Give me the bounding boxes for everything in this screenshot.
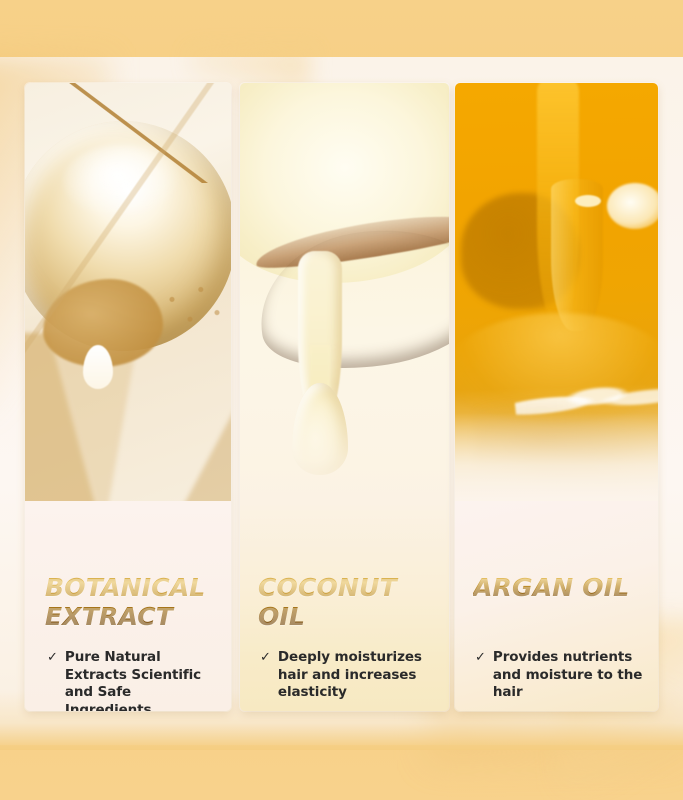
- card-heading: BOTANICAL EXTRACT: [45, 573, 221, 631]
- card-bullet-list: ✓ Provides nutrients and moisture to the…: [475, 649, 646, 702]
- check-icon: ✓: [260, 649, 271, 666]
- bullet-text: Pure Natural Extracts Scientific and Saf…: [65, 649, 219, 711]
- card-heading: ARGAN OIL: [473, 573, 648, 602]
- oil-highlight-large: [607, 183, 658, 229]
- card-text-area: COCONUT OIL ✓ Deeply moisturizes hair an…: [240, 501, 449, 711]
- ingredient-card-botanical-extract[interactable]: BOTANICAL EXTRACT ✓ Pure Natural Extract…: [25, 83, 231, 711]
- card-bullet-list: ✓ Deeply moisturizes hair and increases …: [260, 649, 437, 702]
- botanical-extract-image: [25, 83, 231, 503]
- infographic-canvas: BOTANICAL EXTRACT ✓ Pure Natural Extract…: [0, 0, 683, 800]
- card-heading: COCONUT OIL: [258, 573, 439, 631]
- stem-line-secondary: [25, 83, 231, 503]
- ingredient-card-argan-oil[interactable]: ARGAN OIL ✓ Provides nutrients and moist…: [455, 83, 658, 711]
- image-bottom-fade: [455, 413, 658, 503]
- card-bullet-list: ✓ Pure Natural Extracts Scientific and S…: [47, 649, 219, 711]
- card-text-area: BOTANICAL EXTRACT ✓ Pure Natural Extract…: [25, 501, 231, 711]
- check-icon: ✓: [475, 649, 486, 666]
- coconut-oil-image: [240, 83, 449, 503]
- argan-oil-image: [455, 83, 658, 503]
- check-icon: ✓: [47, 649, 58, 666]
- ingredient-card-coconut-oil[interactable]: COCONUT OIL ✓ Deeply moisturizes hair an…: [240, 83, 449, 711]
- bullet-item: ✓ Deeply moisturizes hair and increases …: [260, 649, 437, 702]
- card-text-area: ARGAN OIL ✓ Provides nutrients and moist…: [455, 501, 658, 711]
- bullet-text: Provides nutrients and moisture to the h…: [493, 649, 646, 702]
- image-bottom-fade: [240, 383, 449, 503]
- bullet-item: ✓ Pure Natural Extracts Scientific and S…: [47, 649, 219, 711]
- bullet-item: ✓ Provides nutrients and moisture to the…: [475, 649, 646, 702]
- bullet-text: Deeply moisturizes hair and increases el…: [278, 649, 437, 702]
- oil-highlight-small: [575, 195, 601, 207]
